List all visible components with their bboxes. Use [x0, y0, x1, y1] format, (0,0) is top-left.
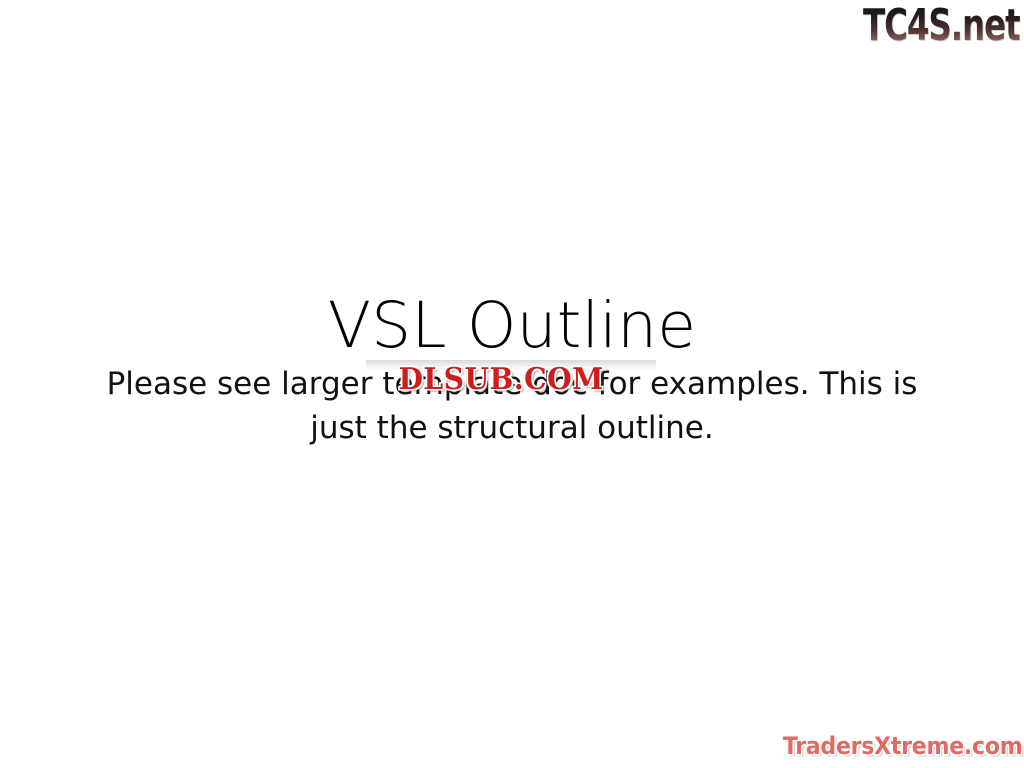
watermark-tradersxtreme: TradersXtreme.com	[782, 732, 1022, 760]
watermark-tc4s: TC4S.net	[863, 2, 1020, 50]
slide-canvas: TC4S.net VSL Outline Please see larger t…	[0, 0, 1024, 768]
page-title: VSL Outline	[0, 290, 1024, 362]
watermark-dlsub: DLSUB.COM	[362, 363, 640, 397]
